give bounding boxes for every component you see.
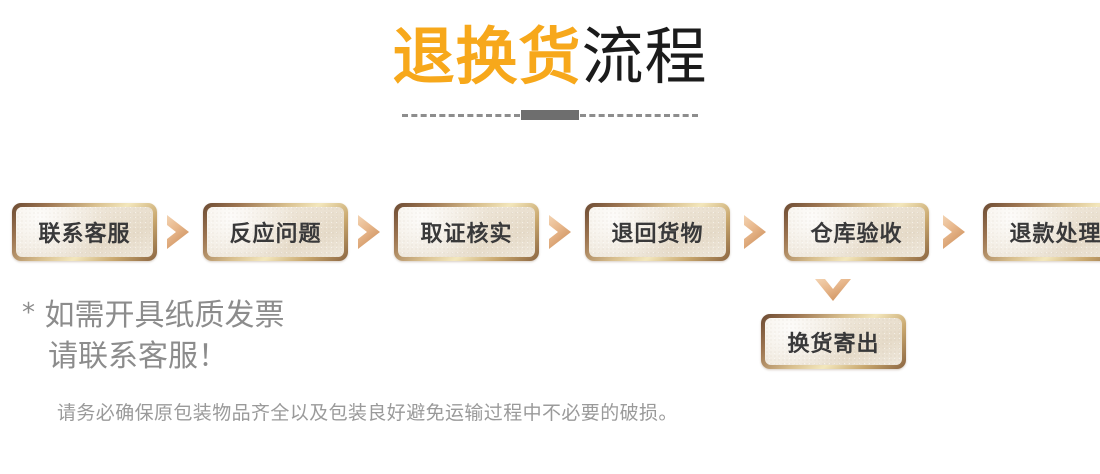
page-title-rest: 流程 [582, 20, 708, 93]
flow-step-6-surface: 退款处理 [987, 207, 1100, 257]
page-title: 退换货流程 [392, 26, 707, 88]
flow-step-6-label: 退款处理 [1009, 216, 1100, 248]
chevron-right-icon [163, 212, 197, 252]
flow-step-5-surface: 仓库验收 [788, 207, 925, 257]
chevron-right-icon [740, 212, 774, 252]
flow-step-2-surface: 反应问题 [207, 207, 344, 257]
asterisk-icon: * [22, 298, 35, 328]
divider-center-block [521, 110, 579, 120]
flow-branch-step-surface: 换货寄出 [765, 318, 902, 365]
page-title-accent: 退换货 [392, 20, 581, 93]
flow-step-5[interactable]: 仓库验收 [784, 203, 929, 261]
flow-branch-step[interactable]: 换货寄出 [761, 314, 906, 369]
chevron-right-icon [939, 212, 973, 252]
flow-step-4[interactable]: 退回货物 [585, 203, 730, 261]
chevron-down-icon [812, 276, 854, 310]
flow-step-2[interactable]: 反应问题 [203, 203, 348, 261]
flow-step-1-label: 联系客服 [38, 216, 130, 248]
flow-step-3[interactable]: 取证核实 [394, 203, 539, 261]
chevron-right-icon [545, 212, 579, 252]
flow-step-4-surface: 退回货物 [589, 207, 726, 257]
chevron-right-icon [354, 212, 388, 252]
divider-dash-right [580, 114, 698, 117]
flow-step-1[interactable]: 联系客服 [12, 203, 157, 261]
flow-step-3-label: 取证核实 [420, 216, 512, 248]
invoice-note: * 如需开具纸质发票 请联系客服！ [22, 296, 452, 377]
flow-steps-row: 联系客服 反应问题 取证核实 [0, 197, 1100, 267]
flow-step-6[interactable]: 退款处理 [983, 203, 1100, 261]
divider-dash-left [402, 114, 520, 117]
packaging-note: 请务必确保原包装物品齐全以及包装良好避免运输过程中不必要的破损。 [57, 398, 678, 425]
flow-step-5-label: 仓库验收 [810, 216, 902, 248]
invoice-note-line-2: 请联系客服！ [22, 337, 452, 378]
flow-step-3-surface: 取证核实 [398, 207, 535, 257]
flow-step-4-label: 退回货物 [611, 216, 703, 248]
dashed-divider-icon [0, 110, 1100, 120]
invoice-note-text-1: 如需开具纸质发票 [45, 298, 285, 333]
flow-step-1-surface: 联系客服 [16, 207, 153, 257]
page-header: 退换货流程 [0, 0, 1100, 88]
flow-branch-step-label: 换货寄出 [787, 326, 879, 358]
invoice-note-line-1: * 如需开具纸质发票 [22, 296, 452, 337]
flow-step-2-label: 反应问题 [229, 216, 321, 248]
